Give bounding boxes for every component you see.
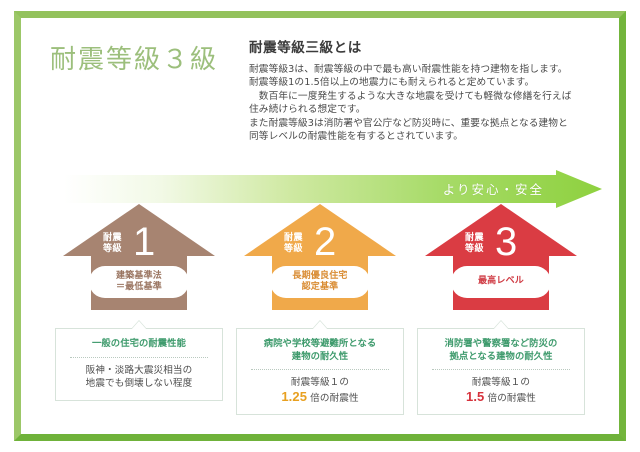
house-number-1: 1 xyxy=(133,222,155,262)
multiplier-value-2: 1.25 xyxy=(281,389,307,404)
house-grade-label-2: 耐震 等級 xyxy=(284,233,303,255)
page-title: 耐震等級３級 xyxy=(50,39,218,76)
house-number-3: 3 xyxy=(495,222,517,262)
caption-title-line: 病院や学校等避難所となる xyxy=(243,338,397,351)
grade-column-3: 耐震 等級 3 最高レベル 消防署や警察署など防災の 拠点となる建物の耐久性 xyxy=(415,204,587,415)
house-shape-1: 耐震 等級 1 建築基準法 ＝最低基準 xyxy=(63,204,215,310)
pill-line: 最高レベル xyxy=(478,276,524,288)
caption-title-2: 病院や学校等避難所となる 建物の耐久性 xyxy=(243,338,397,363)
grade-label-line: 等級 xyxy=(103,244,122,255)
caption-title-line: 消防署や警察署など防災の xyxy=(424,338,578,351)
caption-title-1: 一般の住宅の耐震性能 xyxy=(62,338,216,351)
caption-body-line: 耐震等級１の xyxy=(424,376,578,390)
caption-divider xyxy=(251,369,389,370)
caption-title-3: 消防署や警察署など防災の 拠点となる建物の耐久性 xyxy=(424,338,578,363)
caption-box-1: 一般の住宅の耐震性能 阪神・淡路大震災相当の 地震でも倒壊しない程度 xyxy=(55,328,223,401)
caption-body-2: 耐震等級１の 1.25 倍の耐震性 xyxy=(243,376,397,405)
caption-body-line: 地震でも倒壊しない程度 xyxy=(62,377,216,391)
caption-body-line: 耐震等級１の xyxy=(243,376,397,390)
caption-box-2: 病院や学校等避難所となる 建物の耐久性 耐震等級１の 1.25 倍の耐震性 xyxy=(236,328,404,415)
caption-multiplier-row-2: 1.25 倍の耐震性 xyxy=(243,390,397,406)
grade-label-line: 耐震 xyxy=(465,233,484,244)
description-line: 同等レベルの耐震性能を有するとされています。 xyxy=(249,130,597,143)
caption-pointer-fill xyxy=(131,321,147,330)
caption-title-line: 一般の住宅の耐震性能 xyxy=(62,338,216,351)
caption-body-1: 阪神・淡路大震災相当の 地震でも倒壊しない程度 xyxy=(62,364,216,391)
multiplier-suffix-2: 倍の耐震性 xyxy=(307,393,359,404)
house-grade-label-3: 耐震 等級 xyxy=(465,233,484,255)
multiplier-value-3: 1.5 xyxy=(466,389,484,404)
grade-column-1: 耐震 等級 1 建築基準法 ＝最低基準 一般の住宅の耐震性能 xyxy=(53,204,225,401)
description-block: 耐震等級三級とは 耐震等級3は、耐震等級の中で最も高い耐震性能を持つ建物を指しま… xyxy=(249,36,597,143)
pill-line: ＝最低基準 xyxy=(116,282,162,294)
caption-divider xyxy=(70,357,208,358)
description-line: また耐震等級3は消防署や官公庁など防災時に、重要な拠点となる建物と xyxy=(249,117,597,130)
pill-line: 認定基準 xyxy=(292,282,347,294)
caption-divider xyxy=(432,369,570,370)
house-grade-label-1: 耐震 等級 xyxy=(103,233,122,255)
caption-title-line: 建物の耐久性 xyxy=(243,351,397,364)
grade-label-line: 等級 xyxy=(284,244,303,255)
pill-line: 長期優良住宅 xyxy=(292,271,347,283)
multiplier-suffix-3: 倍の耐震性 xyxy=(484,393,536,404)
house-pill-3: 最高レベル xyxy=(451,266,551,298)
description-line: 住み続けられる想定です。 xyxy=(249,103,597,116)
caption-title-line: 拠点となる建物の耐久性 xyxy=(424,351,578,364)
house-shape-3: 耐震 等級 3 最高レベル xyxy=(425,204,577,310)
grade-column-2: 耐震 等級 2 長期優良住宅 認定基準 病院や学校等避難所となる 建物の耐久性 xyxy=(234,204,406,415)
caption-multiplier-row-3: 1.5 倍の耐震性 xyxy=(424,390,578,406)
grade-label-line: 耐震 xyxy=(284,233,303,244)
caption-box-3: 消防署や警察署など防災の 拠点となる建物の耐久性 耐震等級１の 1.5 倍の耐震… xyxy=(417,328,585,415)
description-line: 耐震等級1の1.5倍以上の地震力にも耐えられると定めています。 xyxy=(249,76,597,89)
caption-pointer-fill xyxy=(493,321,509,330)
house-pill-1: 建築基準法 ＝最低基準 xyxy=(89,266,189,298)
description-heading: 耐震等級三級とは xyxy=(249,36,597,56)
description-line: 数百年に一度発生するような大きな地震を受けても軽微な修繕を行えば xyxy=(249,90,597,103)
caption-body-3: 耐震等級１の 1.5 倍の耐震性 xyxy=(424,376,578,405)
house-shape-2: 耐震 等級 2 長期優良住宅 認定基準 xyxy=(244,204,396,310)
grade-label-line: 等級 xyxy=(465,244,484,255)
house-number-2: 2 xyxy=(314,222,336,262)
arrow-label: より安心・安全 xyxy=(443,179,544,198)
infographic-page: 耐震等級３級 耐震等級三級とは 耐震等級3は、耐震等級の中で最も高い耐震性能を持… xyxy=(0,0,640,452)
infographic-content: 耐震等級３級 耐震等級三級とは 耐震等級3は、耐震等級の中で最も高い耐震性能を持… xyxy=(21,18,619,434)
grade-label-line: 耐震 xyxy=(103,233,122,244)
description-line: 耐震等級3は、耐震等級の中で最も高い耐震性能を持つ建物を指します。 xyxy=(249,63,597,76)
caption-pointer-fill xyxy=(312,321,328,330)
caption-body-line: 阪神・淡路大震災相当の xyxy=(62,364,216,378)
house-pill-2: 長期優良住宅 認定基準 xyxy=(270,266,370,298)
pill-line: 建築基準法 xyxy=(116,271,162,283)
